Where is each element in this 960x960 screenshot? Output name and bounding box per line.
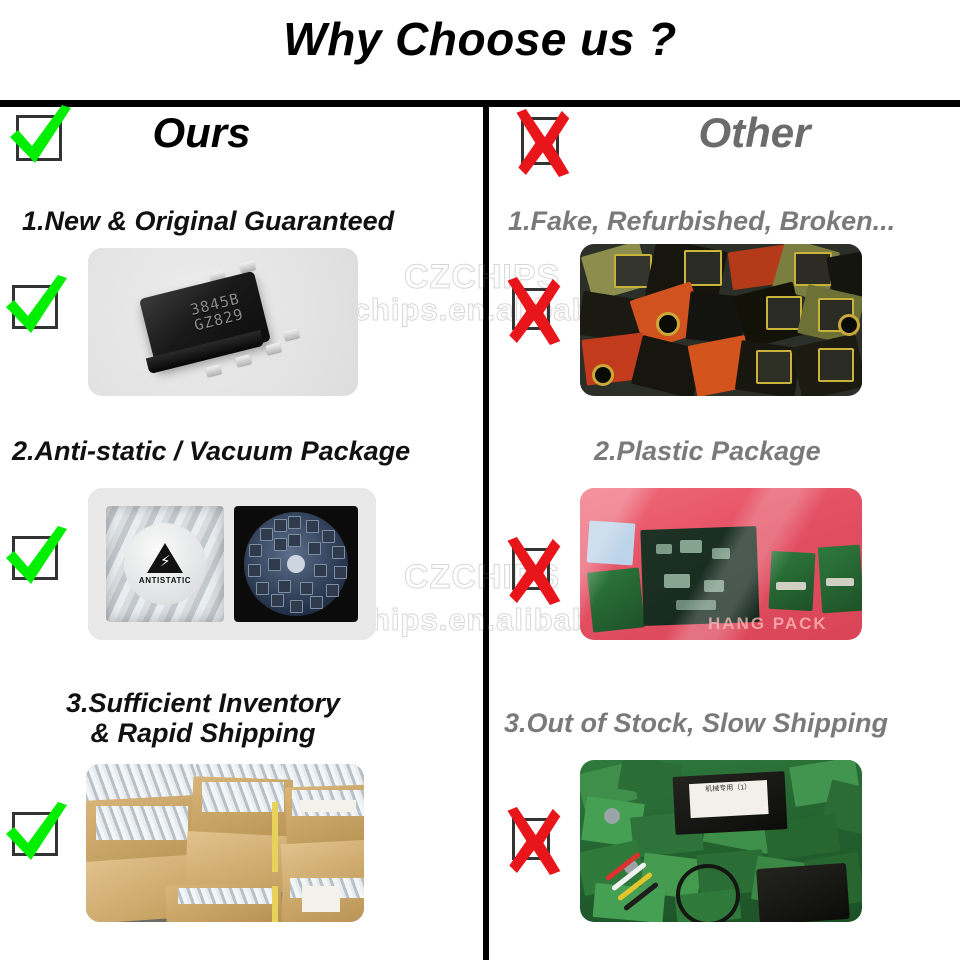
esd-warning-icon: ⚡ [147,543,183,573]
cross-icon [512,548,550,590]
comparison-row-1: 1.New & Original Guaranteed [0,170,960,420]
antistatic-bag: ⚡ ANTISTATIC [106,506,224,622]
module-label: 机械专用（1） [689,780,769,818]
cross-icon [512,818,550,860]
reel-tray [234,506,358,622]
comparison-infographic: Why Choose us ? Ours Other CZCHIPS czchi… [0,0,960,960]
check-icon [12,285,58,329]
row-3-label-ours-line-2: & Rapid Shipping [38,718,368,748]
black-module: 机械专用（1） [673,771,788,835]
antistatic-text: ANTISTATIC [139,576,191,585]
row-1-label-other: 1.Fake, Refurbished, Broken... [508,206,895,236]
column-header-ours: Ours [0,107,483,169]
row-2-label-ours: 2.Anti-static / Vacuum Package [12,436,410,466]
check-glyph [0,520,72,594]
row-1-label-ours: 1.New & Original Guaranteed [22,206,394,236]
check-icon [12,812,58,856]
row-2-photo-ours: ⚡ ANTISTATIC [88,488,376,640]
cross-glyph [498,274,566,346]
bag-print-text: HANG PACK [708,614,828,634]
row-2-label-other: 2.Plastic Package [594,436,821,466]
column-label-other: Other [519,109,960,157]
column-header-other: Other [489,107,960,169]
row-2-photo-other: HANG PACK [580,488,862,640]
page-title: Why Choose us ? [0,12,960,66]
comparison-row-3: 3.Sufficient Inventory & Rapid Shipping [0,660,960,960]
cross-icon [512,288,550,330]
check-icon [12,536,58,580]
row-3-label-other: 3.Out of Stock, Slow Shipping [504,708,888,738]
row-3-photo-other: 机械专用（1） [580,760,862,922]
row-3-label-ours-line-1: 3.Sufficient Inventory [38,688,368,718]
column-label-ours: Ours [0,109,443,157]
row-3-label-ours: 3.Sufficient Inventory & Rapid Shipping [38,688,368,748]
check-glyph [0,796,72,870]
comparison-row-2: 2.Anti-static / Vacuum Package ⚡ ANTISTA… [0,408,960,666]
row-1-photo-ours: 3845B GZ829 [88,248,358,396]
row-3-photo-ours [86,764,364,922]
row-1-photo-other [580,244,862,396]
horizontal-divider [0,100,960,107]
check-glyph [0,269,72,343]
antistatic-label: ⚡ ANTISTATIC [124,523,206,605]
cross-glyph [498,534,566,606]
wire-bundle [602,864,650,910]
cross-glyph [498,804,566,876]
